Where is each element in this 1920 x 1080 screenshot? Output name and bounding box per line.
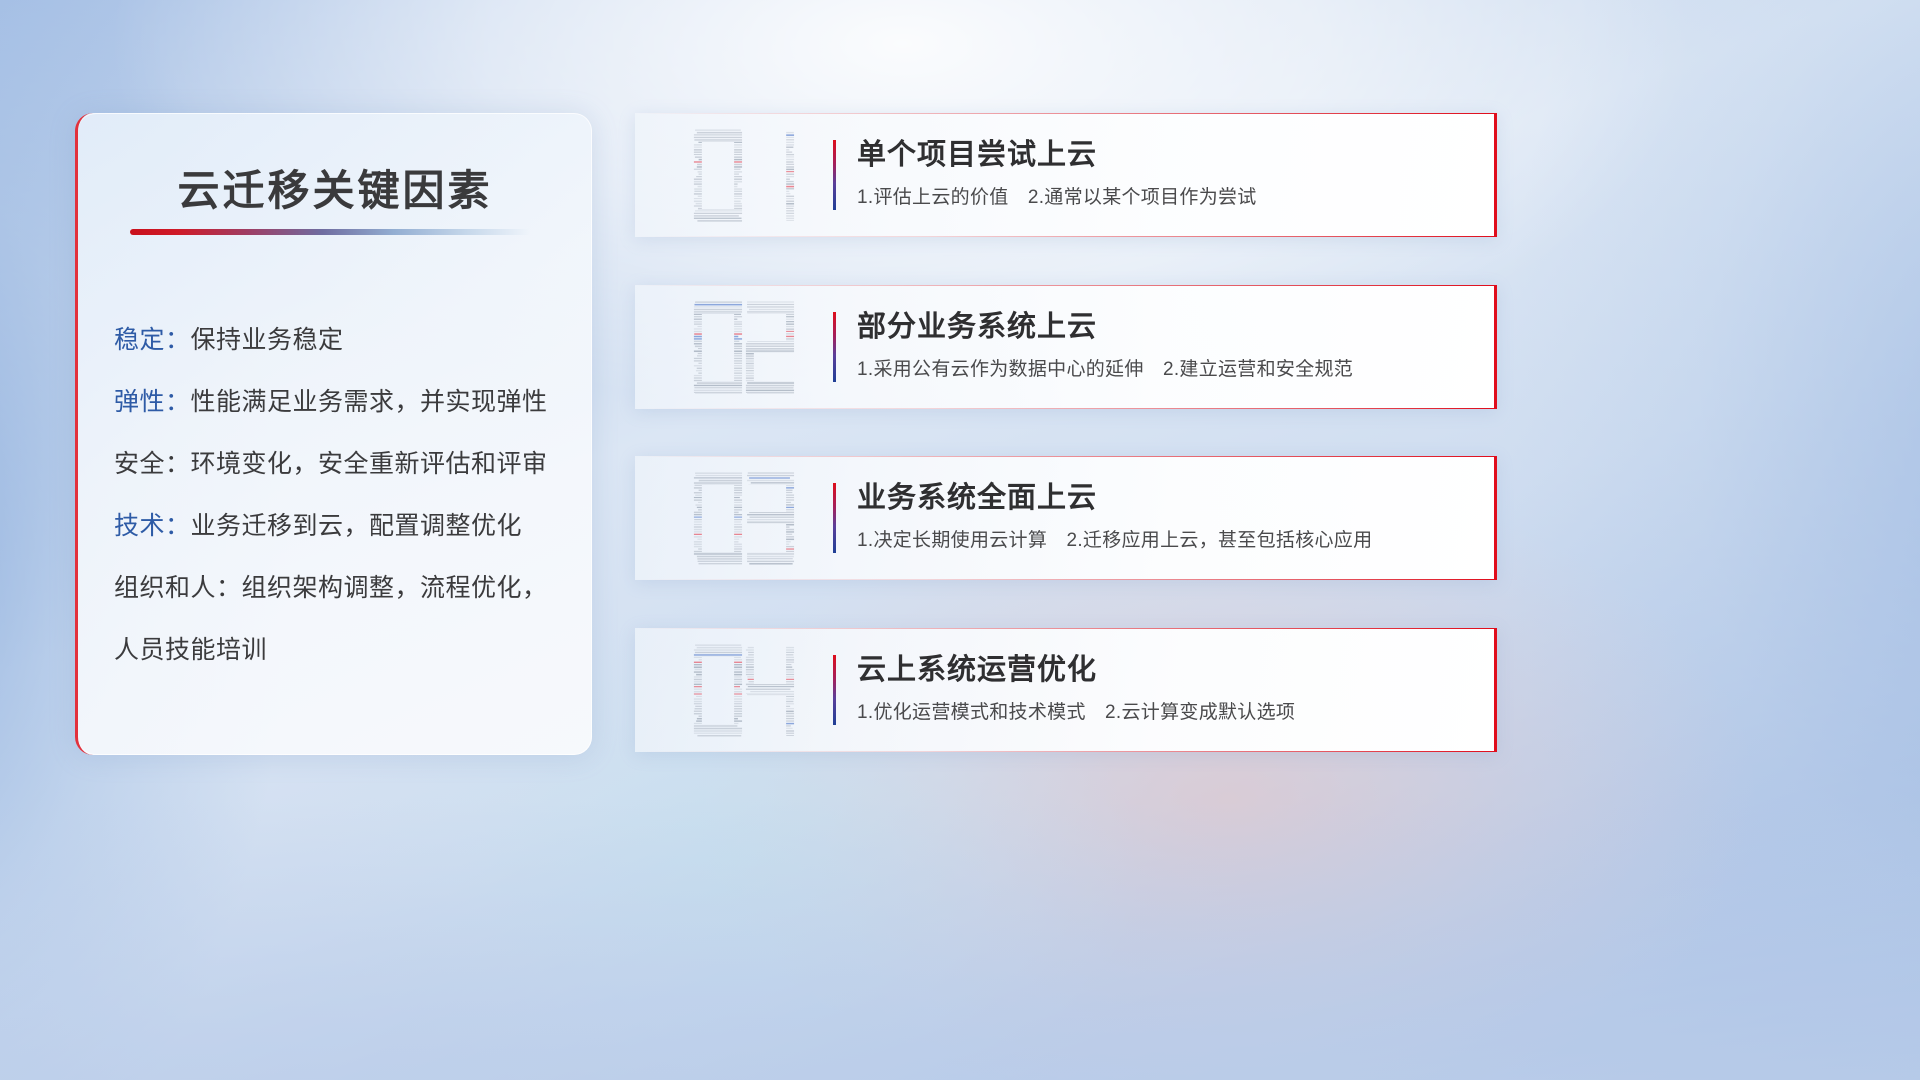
key-factors-list: 稳定：保持业务稳定弹性：性能满足业务需求，并实现弹性安全：环境变化，安全重新评估… — [114, 309, 574, 681]
page-title: 云迁移关键因素 — [78, 157, 592, 218]
step-number-02-glyph — [663, 297, 823, 397]
step-number-04-glyph — [663, 640, 823, 740]
key-factor-row: 人员技能培训 — [114, 619, 574, 681]
step-title: 部分业务系统上云 — [857, 307, 1480, 347]
step-card-02[interactable]: 部分业务系统上云 1.采用公有云作为数据中心的延伸 2.建立运营和安全规范 — [635, 285, 1497, 409]
key-factor-value: 组织架构调整，流程优化， — [242, 574, 548, 602]
step-description: 1.采用公有云作为数据中心的延伸 2.建立运营和安全规范 — [857, 357, 1480, 383]
key-factor-value: 业务迁移到云，配置调整优化 — [191, 512, 523, 540]
step-number-01-glyph — [663, 125, 823, 225]
key-factor-value: 性能满足业务需求，并实现弹性 — [191, 388, 548, 416]
step-accent-bar — [833, 483, 836, 553]
key-factor-row: 组织和人：组织架构调整，流程优化， — [114, 557, 574, 619]
step-title: 业务系统全面上云 — [857, 478, 1480, 518]
step-card-03[interactable]: 业务系统全面上云 1.决定长期使用云计算 2.迁移应用上云，甚至包括核心应用 — [635, 456, 1497, 580]
key-factor-label: 技术： — [114, 512, 191, 540]
key-factor-row: 技术：业务迁移到云，配置调整优化 — [114, 495, 574, 557]
key-factors-card: 云迁移关键因素 稳定：保持业务稳定弹性：性能满足业务需求，并实现弹性安全：环境变… — [75, 113, 592, 755]
key-factor-value: 保持业务稳定 — [191, 326, 344, 354]
title-underline-gradient — [130, 229, 530, 235]
key-factor-row: 弹性：性能满足业务需求，并实现弹性 — [114, 371, 574, 433]
step-title: 单个项目尝试上云 — [857, 135, 1480, 175]
step-accent-bar — [833, 655, 836, 725]
key-factor-row: 安全：环境变化，安全重新评估和评审 — [114, 433, 574, 495]
step-title: 云上系统运营优化 — [857, 650, 1480, 690]
slide-canvas: 云迁移关键因素 稳定：保持业务稳定弹性：性能满足业务需求，并实现弹性安全：环境变… — [0, 0, 1920, 1080]
step-description: 1.优化运营模式和技术模式 2.云计算变成默认选项 — [857, 700, 1480, 726]
step-accent-bar — [833, 140, 836, 210]
step-card-01[interactable]: 单个项目尝试上云 1.评估上云的价值 2.通常以某个项目作为尝试 — [635, 113, 1497, 237]
key-factor-label: 安全： — [114, 450, 191, 478]
step-card-04[interactable]: 云上系统运营优化 1.优化运营模式和技术模式 2.云计算变成默认选项 — [635, 628, 1497, 752]
step-accent-bar — [833, 312, 836, 382]
step-number-03-glyph — [663, 468, 823, 568]
key-factor-row: 稳定：保持业务稳定 — [114, 309, 574, 371]
step-description: 1.决定长期使用云计算 2.迁移应用上云，甚至包括核心应用 — [857, 528, 1480, 554]
key-factor-label: 组织和人： — [114, 574, 242, 602]
key-factor-value: 环境变化，安全重新评估和评审 — [191, 450, 548, 478]
step-description: 1.评估上云的价值 2.通常以某个项目作为尝试 — [857, 185, 1480, 211]
key-factor-value: 人员技能培训 — [114, 636, 267, 664]
key-factor-label: 弹性： — [114, 388, 191, 416]
key-factor-label: 稳定： — [114, 326, 191, 354]
